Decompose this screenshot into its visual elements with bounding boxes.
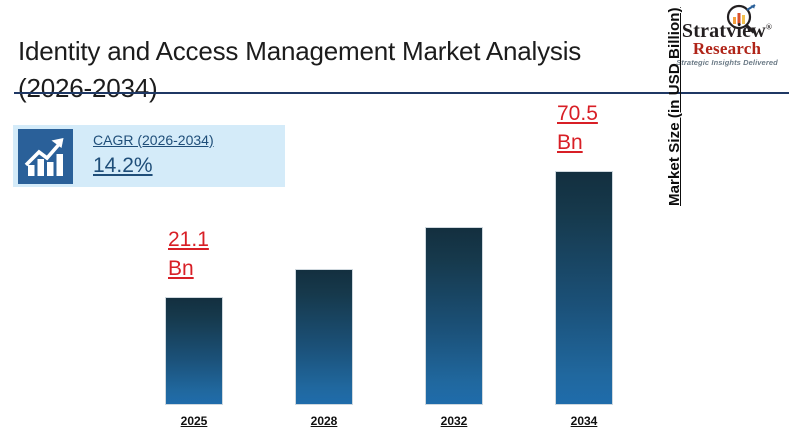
bar-value-2025-number: 21.1 xyxy=(168,226,209,255)
bar-value-2025-unit: Bn xyxy=(168,255,209,284)
bar-2034[interactable] xyxy=(555,171,613,405)
bar-value-2034-number: 70.5 xyxy=(557,100,598,129)
bar-value-2034: 70.5 Bn xyxy=(557,100,598,158)
bar-2032[interactable] xyxy=(425,227,483,405)
bar-2028[interactable] xyxy=(295,269,353,405)
bar-value-2034-unit: Bn xyxy=(557,129,598,158)
tick-label-2028: 2028 xyxy=(295,414,353,428)
tick-label-2025: 2025 xyxy=(165,414,223,428)
tick-label-2034: 2034 xyxy=(555,414,613,428)
chart-page: Identity and Access Management Market An… xyxy=(0,0,800,441)
tick-label-2032: 2032 xyxy=(425,414,483,428)
bar-2025[interactable] xyxy=(165,297,223,405)
y-axis-label: Market Size (in USD Billion) xyxy=(666,0,696,206)
bar-value-2025: 21.1 Bn xyxy=(168,226,209,284)
